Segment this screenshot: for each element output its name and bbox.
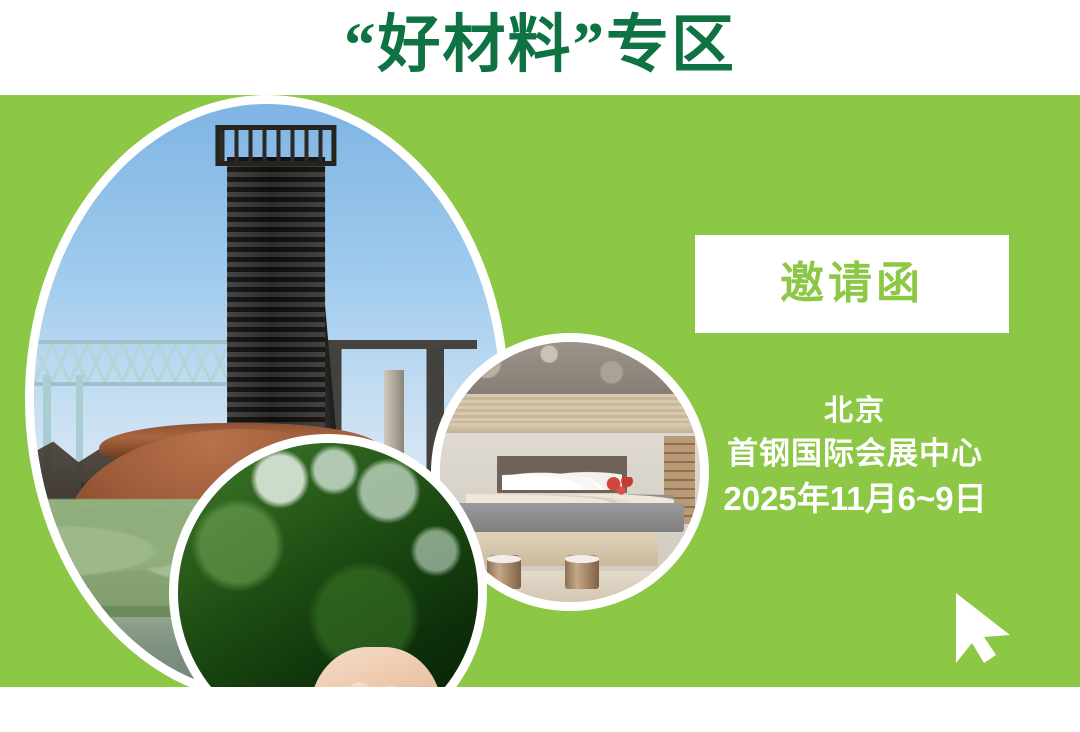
mouse-pointer-icon: [952, 591, 1014, 669]
venue-city: 北京: [660, 391, 1050, 432]
green-moss-house-photo: [178, 443, 478, 687]
bronze-stool: [565, 555, 599, 589]
invitation-poster: “好材料”专区: [0, 0, 1080, 732]
venue-hall: 首钢国际会展中心: [660, 432, 1050, 476]
gravel-roof: [440, 342, 700, 397]
venue-info: 北京 首钢国际会展中心 2025年11月6~9日: [660, 391, 1050, 523]
blast-furnace-tower: [227, 157, 325, 464]
house-photo-inner: [178, 443, 478, 687]
page-title: “好材料”专区: [344, 14, 736, 77]
title-band: “好材料”专区: [0, 0, 1080, 95]
green-bokeh-background: [178, 443, 478, 687]
invitation-label: 邀请函: [780, 262, 924, 306]
venue-date: 2025年11月6~9日: [660, 476, 1050, 523]
tower-top-frame: [216, 125, 337, 166]
green-stage: 邀请函 北京 首钢国际会展中心 2025年11月6~9日: [0, 95, 1080, 687]
long-sofa: [456, 503, 685, 532]
invitation-badge: 邀请函: [695, 235, 1009, 333]
bottom-white-band: [0, 687, 1080, 732]
bronze-stool: [487, 555, 521, 589]
